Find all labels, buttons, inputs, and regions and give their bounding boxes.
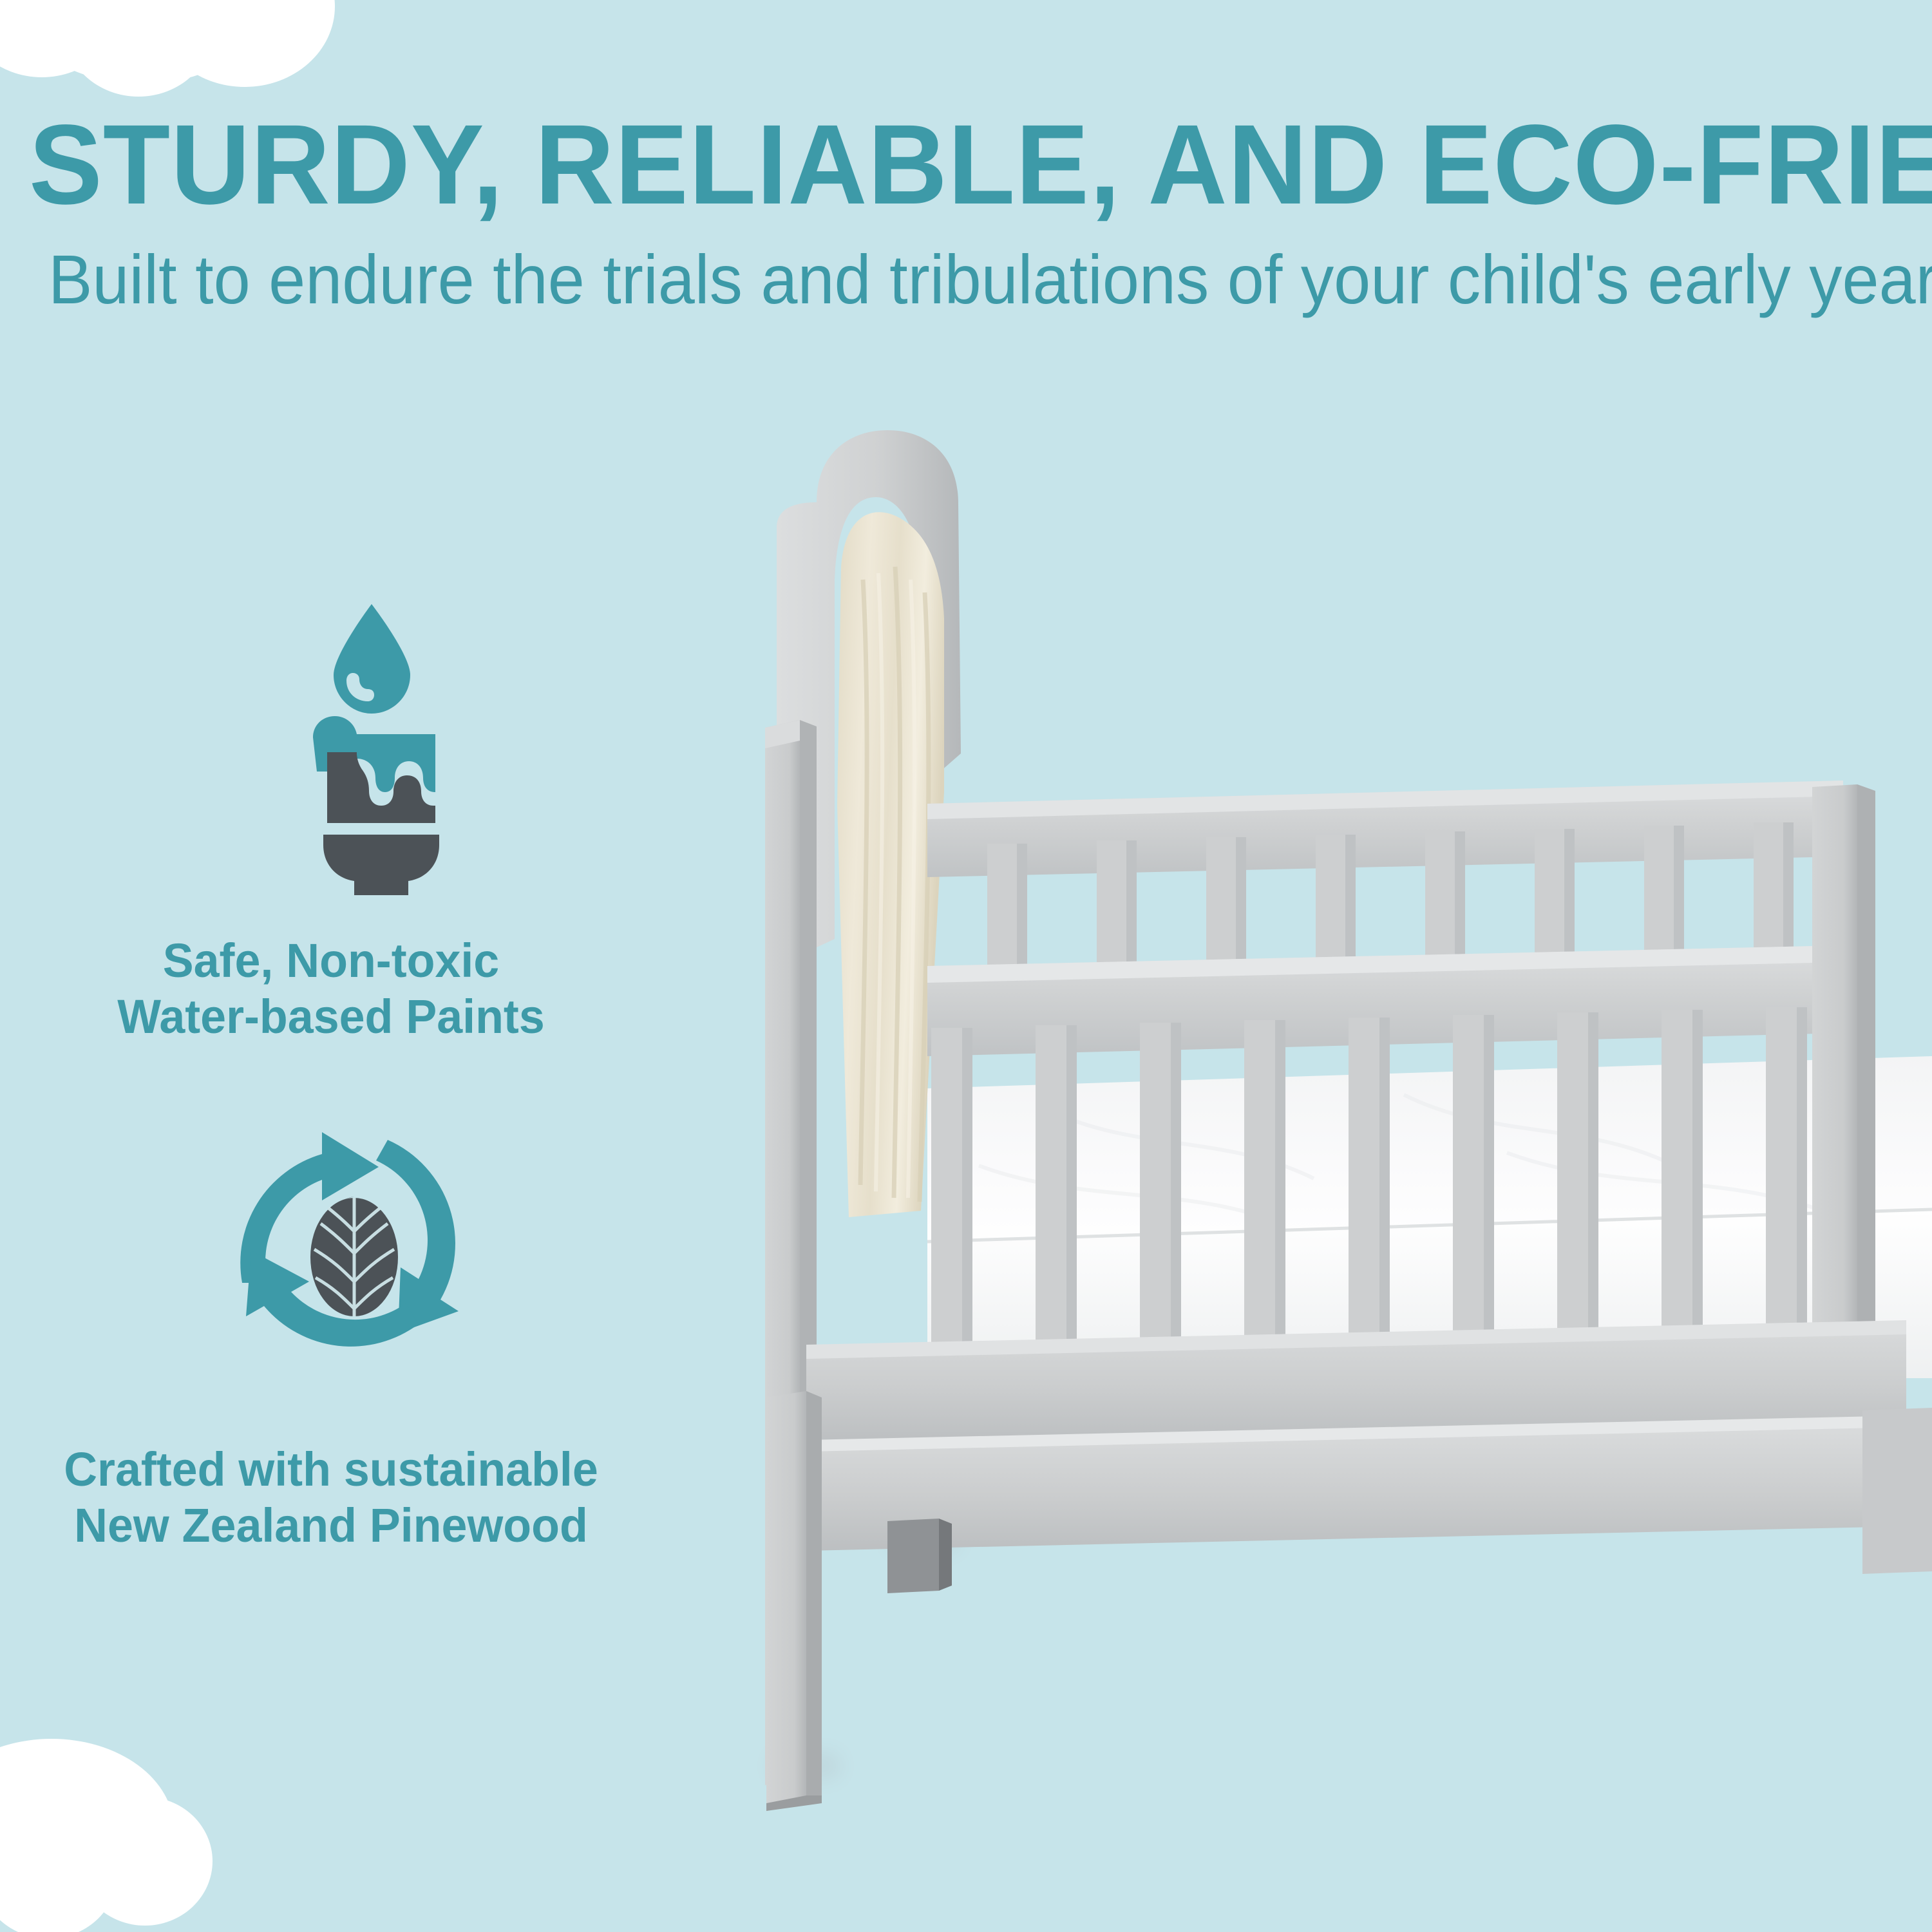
feature-caption-paint-line2: Water-based Paints (19, 989, 643, 1045)
bed-side-rail (806, 1320, 1906, 1551)
guardrail-lower-slats (931, 1007, 1807, 1363)
feature-caption-wood: Crafted with sustainable New Zealand Pin… (19, 1441, 643, 1554)
support-foot (887, 1519, 952, 1593)
water-drop-icon (334, 604, 410, 714)
page-title: STURDY, RELIABLE, AND ECO-FRIENDLY (29, 108, 1903, 222)
product-feature-poster: STURDY, RELIABLE, AND ECO-FRIENDLY Built… (0, 0, 1932, 1932)
paint-brush-water-drop-icon (309, 599, 502, 895)
pinecone-icon (310, 1197, 398, 1316)
brush-handle-icon (323, 835, 439, 895)
recycle-pinecone-icon (225, 1121, 483, 1378)
bed-leg (766, 1391, 822, 1811)
feature-caption-wood-line1: Crafted with sustainable (19, 1441, 643, 1497)
feature-caption-paint: Safe, Non-toxic Water-based Paints (19, 933, 643, 1045)
feature-caption-wood-line2: New Zealand Pinewood (19, 1497, 643, 1553)
feature-caption-paint-line1: Safe, Non-toxic (19, 933, 643, 989)
page-subtitle: Built to endure the trials and tribulati… (48, 245, 1884, 314)
bed-footer-rail (1862, 1408, 1932, 1574)
